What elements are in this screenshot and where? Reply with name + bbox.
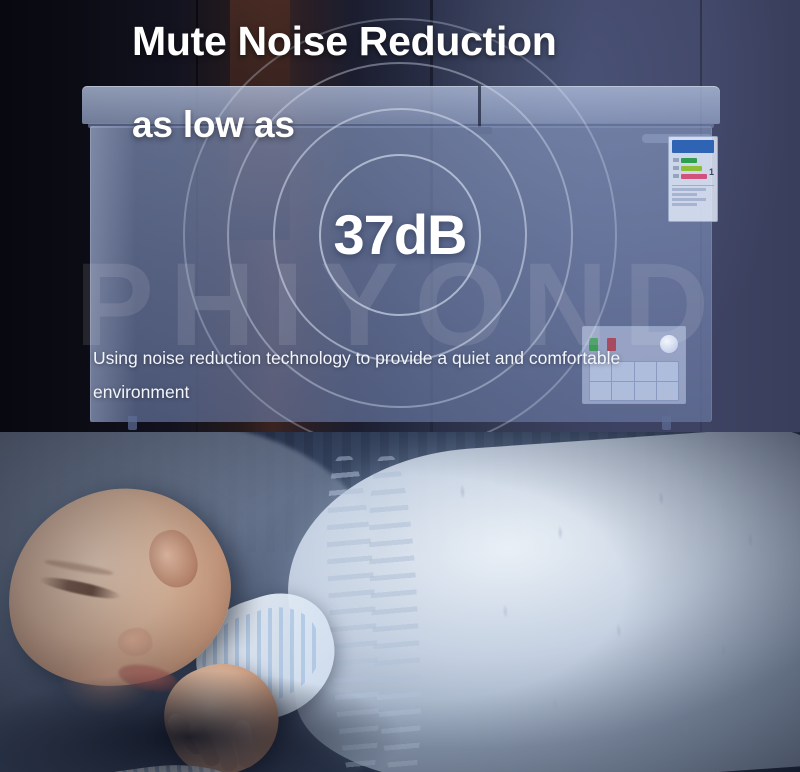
freezer-foot bbox=[128, 416, 137, 430]
noise-reduction-banner: 1 P bbox=[0, 0, 800, 772]
sleeping-baby-photo bbox=[0, 432, 800, 772]
energy-bar-row bbox=[673, 157, 713, 163]
decibel-value: 37dB bbox=[0, 202, 800, 267]
energy-label-bars bbox=[672, 155, 714, 181]
energy-bar-row bbox=[673, 173, 713, 179]
energy-bar-row bbox=[673, 165, 713, 171]
freezer-lid-hinge bbox=[478, 86, 481, 128]
description-text: Using noise reduction technology to prov… bbox=[93, 341, 673, 409]
freezer-foot bbox=[662, 416, 671, 430]
subtitle: as low as bbox=[132, 104, 295, 146]
energy-grade-value: 1 bbox=[709, 167, 714, 177]
foreground-shadow bbox=[0, 672, 400, 772]
energy-label-header bbox=[672, 140, 714, 153]
page-title: Mute Noise Reduction bbox=[132, 18, 557, 65]
